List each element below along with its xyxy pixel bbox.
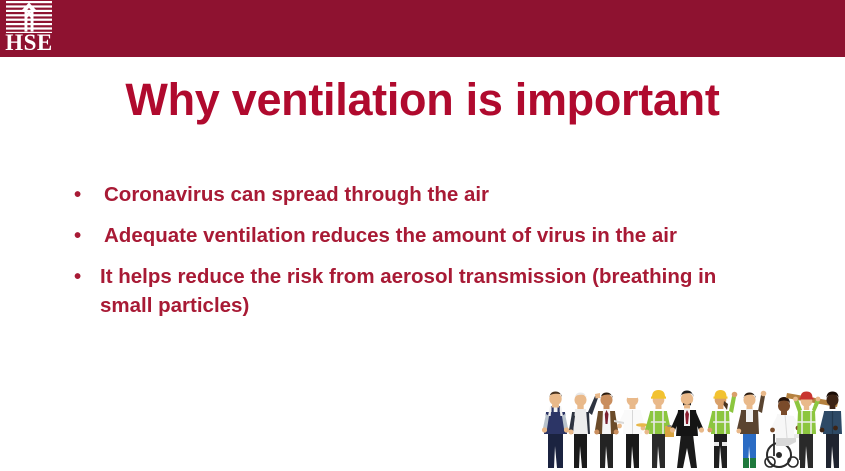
header-bar [0,0,845,57]
figure-chef [614,388,648,468]
list-item: • Coronavirus can spread through the air [74,180,774,209]
figure-female-worker [707,390,737,468]
slide: HSE Why ventilation is important • Coron… [0,0,845,471]
list-item-text: It helps reduce the risk from aerosol tr… [100,262,740,320]
figure-businessman-brown [594,393,618,469]
hse-logo-text: HSE [3,30,55,56]
bullet-list: • Coronavirus can spread through the air… [74,180,774,320]
list-item: • Adequate ventilation reduces the amoun… [74,221,774,250]
list-item-text: Adequate ventilation reduces the amount … [100,221,740,250]
figure-mechanic [542,392,569,469]
figure-construction-worker [644,390,674,468]
bullet-dot-icon: • [74,262,100,291]
figure-wheelchair-user [765,397,800,467]
list-item: • It helps reduce the risk from aerosol … [74,262,774,320]
page-title: Why ventilation is important [0,74,845,126]
figure-man-brown-jacket [736,391,766,468]
list-item-text: Coronavirus can spread through the air [100,180,740,209]
figure-businessman-black [670,391,704,469]
bullet-dot-icon: • [74,180,100,209]
hse-logo: HSE [3,0,55,57]
diverse-workers-illustration [538,376,845,471]
bullet-dot-icon: • [74,221,100,250]
hse-logo-mark-icon [6,1,52,33]
